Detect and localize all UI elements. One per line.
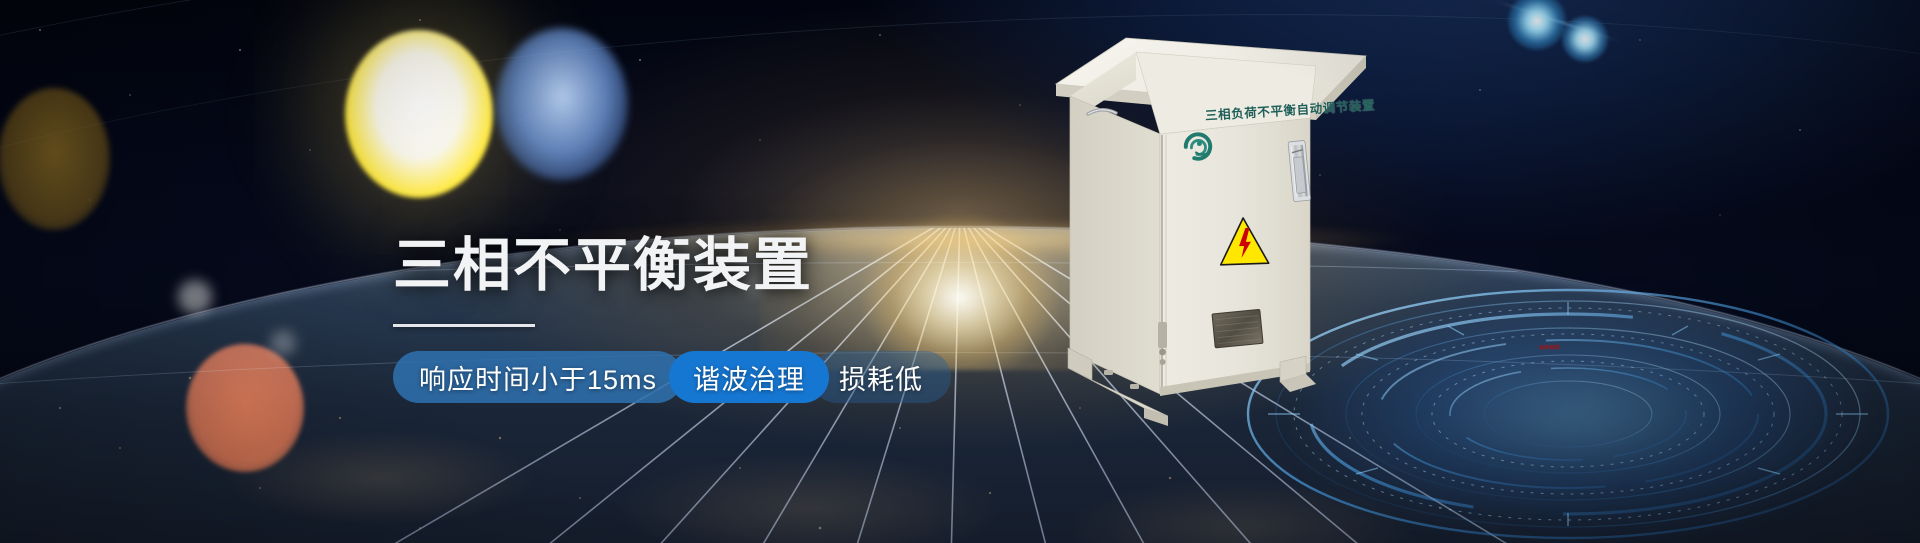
feature-tag-list: 响应时间小于15ms 谐波治理 损耗低: [393, 351, 1113, 403]
lens-flare-dot: [178, 280, 212, 314]
page-title: 三相不平衡装置: [393, 236, 1113, 296]
warning-label-text: 有电危险: [1539, 344, 1560, 352]
banner-copy-block: 三相不平衡装置 响应时间小于15ms 谐波治理 损耗低: [393, 236, 1113, 403]
lens-flare-dot: [270, 330, 296, 356]
feature-tag-harmonic-treatment[interactable]: 谐波治理: [669, 351, 829, 403]
feature-tag-response-time[interactable]: 响应时间小于15ms: [393, 351, 683, 403]
title-divider: [393, 324, 535, 327]
hero-banner: 三相负荷不平衡自动调节装置 有电危险 三相不平衡装置 响应时间小于15ms 谐波…: [0, 0, 1920, 543]
feature-tag-low-loss[interactable]: 损耗低: [811, 351, 951, 403]
cabinet-base-glow: [1300, 300, 1860, 530]
